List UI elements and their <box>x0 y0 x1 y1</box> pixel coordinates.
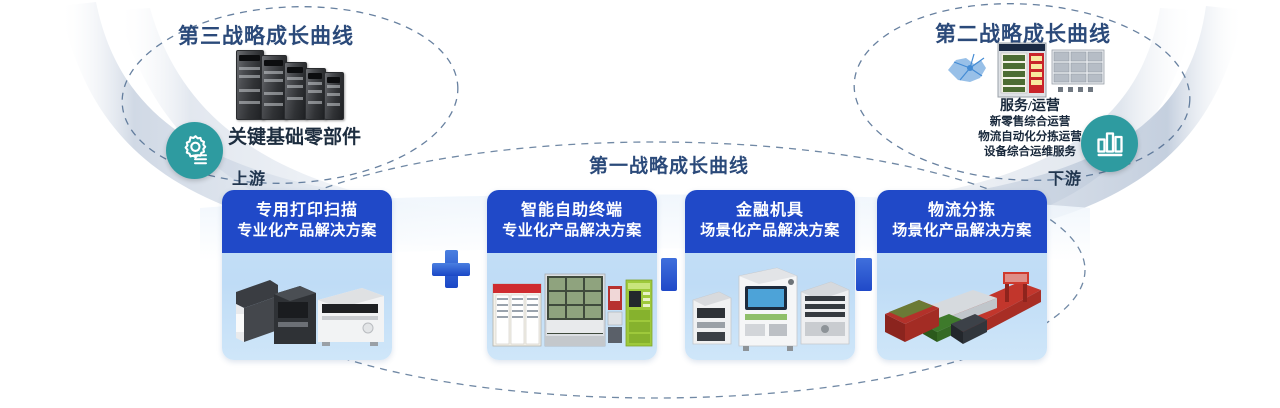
card-header: 金融机具 场景化产品解决方案 <box>685 190 855 252</box>
plus-connector <box>432 250 470 288</box>
gear-document-icon <box>166 122 223 179</box>
card-body <box>487 252 657 360</box>
printer-scanner-image <box>222 252 392 360</box>
card-title: 专用打印扫描 <box>256 201 358 221</box>
card-header: 智能自助终端 专业化产品解决方案 <box>487 190 657 252</box>
bar-connector-1 <box>661 258 677 291</box>
card-title: 物流分拣 <box>928 201 996 221</box>
third-curve-title: 第三战略成长曲线 <box>178 20 354 50</box>
product-card-financial-equipment[interactable]: 金融机具 场景化产品解决方案 <box>685 190 855 360</box>
downstream-label: 下游 <box>1048 165 1082 189</box>
product-card-smart-terminal[interactable]: 智能自助终端 专业化产品解决方案 <box>487 190 657 360</box>
third-curve-caption: 关键基础零部件 <box>228 122 361 149</box>
first-curve-title: 第一战略成长曲线 <box>589 151 749 178</box>
diagram-canvas: 第三战略成长曲线 第二战略成长曲线 第一战略成长曲线 关键基础零部件 <box>0 0 1280 408</box>
product-card-logistics-sorting[interactable]: 物流分拣 场景化产品解决方案 <box>877 190 1047 360</box>
bar-connector-2 <box>856 258 872 291</box>
bar-chart-icon <box>1081 115 1138 172</box>
card-body <box>877 252 1047 360</box>
card-title: 智能自助终端 <box>521 201 623 221</box>
card-subtitle: 专业化产品解决方案 <box>502 221 642 241</box>
card-body <box>222 252 392 360</box>
card-subtitle: 专业化产品解决方案 <box>237 221 377 241</box>
card-header: 专用打印扫描 专业化产品解决方案 <box>222 190 392 252</box>
card-subtitle: 场景化产品解决方案 <box>700 221 840 241</box>
service-operation-image <box>940 40 1120 98</box>
second-curve-heading: 服务/运营 <box>930 98 1130 115</box>
card-title: 金融机具 <box>736 201 804 221</box>
smart-vending-kiosk-image <box>487 252 657 360</box>
card-body <box>685 252 855 360</box>
logistics-sorting-image <box>877 252 1047 360</box>
financial-machine-image <box>685 252 855 360</box>
product-card-printer-scanner[interactable]: 专用打印扫描 专业化产品解决方案 <box>222 190 392 360</box>
servo-drive-image <box>236 48 356 120</box>
card-subtitle: 场景化产品解决方案 <box>892 221 1032 241</box>
card-header: 物流分拣 场景化产品解决方案 <box>877 190 1047 252</box>
upstream-label: 上游 <box>232 165 266 189</box>
